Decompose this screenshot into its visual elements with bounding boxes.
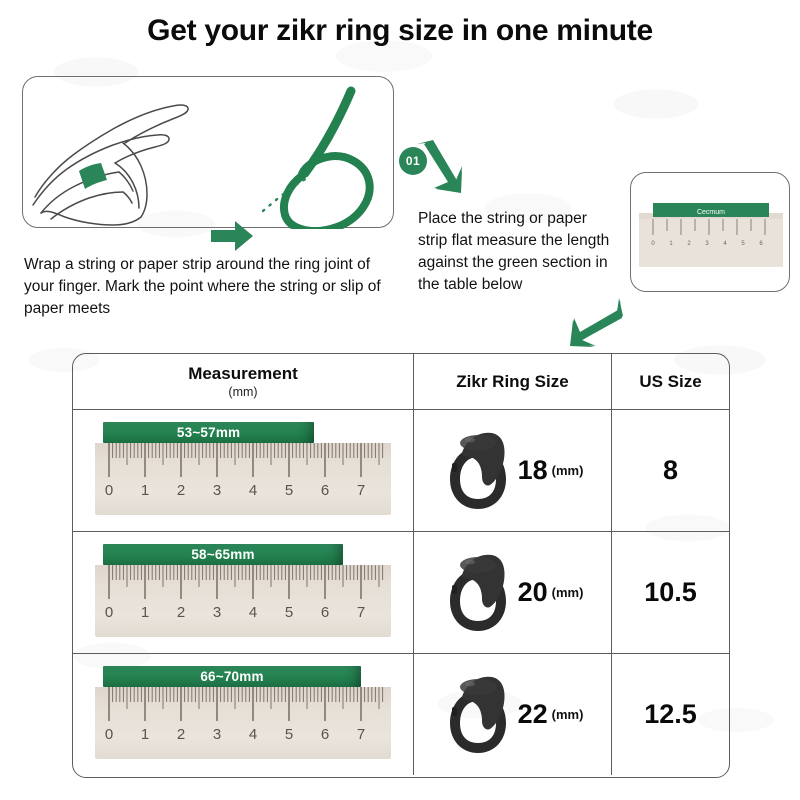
ring-size-cell: 22 (mm)	[413, 654, 611, 775]
panel-02-bar-label: Cecmum	[697, 209, 725, 216]
measurement-green-bar: 66~70mm	[103, 666, 361, 687]
header-ring-size: Zikr Ring Size	[413, 354, 611, 409]
ring-size-cell: 20 (mm)	[413, 532, 611, 653]
ruler-tick-label: 4	[249, 482, 257, 499]
ring-size-value: 18	[518, 455, 548, 486]
ring-size-cell: 18 (mm)	[413, 410, 611, 531]
ruler-tick-label: 6	[321, 726, 329, 743]
step-01-panel: 01	[22, 76, 394, 228]
smart-ring-icon	[442, 671, 514, 759]
ruler-ticks: 01234567	[95, 565, 391, 637]
ruler-tick-label: 7	[357, 604, 365, 621]
hand-illustration	[27, 79, 217, 229]
size-chart-table: Measurement (mm) Zikr Ring Size US Size …	[72, 353, 730, 778]
measurement-green-bar: 53~57mm	[103, 422, 314, 443]
measurement-cell: 53~57mm 01234567	[73, 410, 413, 531]
green-band-icon	[79, 163, 107, 189]
ruler-graphic: 66~70mm 01234567	[95, 666, 391, 764]
ruler-tick-label: 0	[105, 604, 113, 621]
table-row: 66~70mm 01234567 22 (mm)	[73, 653, 729, 775]
ruler-tick-label: 2	[177, 604, 185, 621]
measurement-green-bar: 58~65mm	[103, 544, 343, 565]
ruler-tick-label: 6	[321, 482, 329, 499]
ruler-tick-label: 2	[177, 482, 185, 499]
ruler-tick-label: 5	[285, 604, 293, 621]
ruler-tick-label: 5	[285, 482, 293, 499]
header-us-size: US Size	[611, 354, 729, 409]
ruler-tick-label: 2	[177, 726, 185, 743]
table-header-row: Measurement (mm) Zikr Ring Size US Size	[73, 354, 729, 409]
us-size-value: 10.5	[611, 532, 729, 653]
ring-size-unit: (mm)	[552, 463, 584, 478]
ruler-tick-label: 1	[141, 482, 149, 499]
arrow-right-icon	[209, 219, 255, 253]
ruler-tick-label: 6	[321, 604, 329, 621]
measurement-cell: 58~65mm 01234567	[73, 532, 413, 653]
ruler-tick-label: 3	[213, 726, 221, 743]
ring-size-value: 20	[518, 577, 548, 608]
ruler-tick-label: 7	[357, 482, 365, 499]
ring-size-value: 22	[518, 699, 548, 730]
table-row: 58~65mm 01234567 20 (mm)	[73, 531, 729, 653]
step-02-caption: Place the string or paper strip flat mea…	[418, 208, 618, 296]
string-loop-illustration	[255, 81, 405, 229]
ruler-tick-label: 4	[249, 726, 257, 743]
ring-size-unit: (mm)	[552, 707, 584, 722]
table-row: 53~57mm 01234567 18 (mm)	[73, 409, 729, 531]
ruler-graphic: 53~57mm 01234567	[95, 422, 391, 520]
ruler-graphic: 58~65mm 01234567	[95, 544, 391, 642]
us-size-value: 12.5	[611, 654, 729, 775]
ruler-tick-label: 7	[357, 726, 365, 743]
ruler-tick-label: 4	[249, 604, 257, 621]
ruler-tick-label: 3	[213, 482, 221, 499]
step-02-panel: Cecmum 012 345 6 02	[630, 172, 790, 292]
ruler-tick-label: 1	[141, 726, 149, 743]
header-measurement-unit: (mm)	[188, 385, 298, 399]
ruler-photo-illustration: Cecmum 012 345 6	[639, 191, 783, 277]
ruler-tick-label: 1	[141, 604, 149, 621]
us-size-value: 8	[611, 410, 729, 531]
smart-ring-icon	[442, 427, 514, 515]
ruler-tick-label: 3	[213, 604, 221, 621]
ruler-tick-label: 0	[105, 482, 113, 499]
measurement-cell: 66~70mm 01234567	[73, 654, 413, 775]
ring-size-unit: (mm)	[552, 585, 584, 600]
arrow-down-right-icon	[412, 140, 464, 194]
arrow-down-left-icon	[570, 296, 624, 348]
header-measurement-label: Measurement	[188, 364, 298, 383]
ruler-ticks: 01234567	[95, 443, 391, 515]
ruler-ticks: 01234567	[95, 687, 391, 759]
smart-ring-icon	[442, 549, 514, 637]
header-measurement: Measurement (mm)	[73, 354, 413, 409]
page-title: Get your zikr ring size in one minute	[0, 14, 800, 48]
ruler-tick-label: 0	[105, 726, 113, 743]
ruler-tick-label: 5	[285, 726, 293, 743]
step-01-caption: Wrap a string or paper strip around the …	[24, 254, 396, 320]
